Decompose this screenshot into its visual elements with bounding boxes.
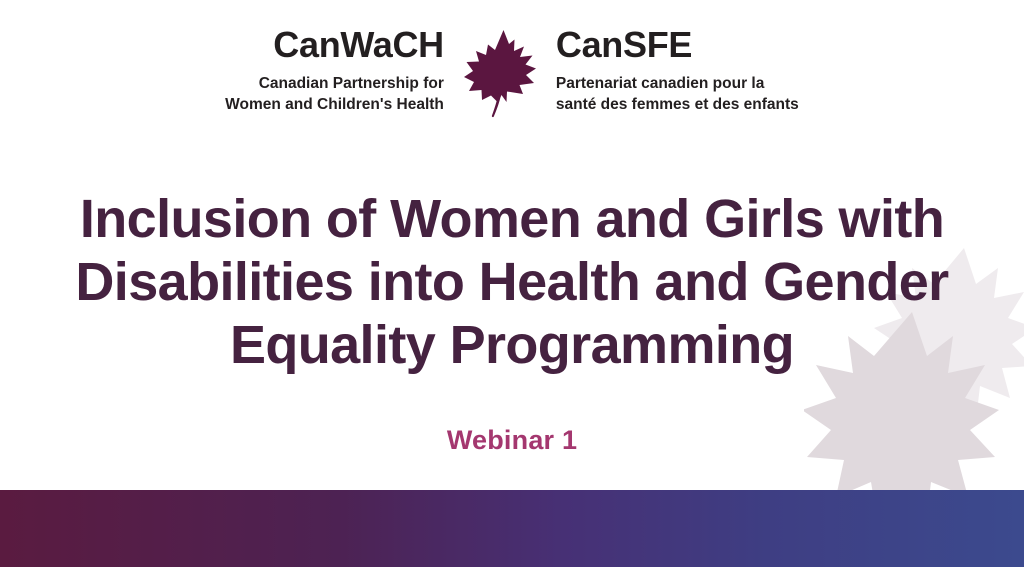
- maple-leaf-icon: [462, 28, 538, 126]
- logo-cansfe-tagline-line1: Partenariat canadien pour la: [556, 73, 764, 94]
- logo-canwach: CanWaCH Canadian Partnership for Women a…: [225, 26, 462, 116]
- brand-logo-lockup: CanWaCH Canadian Partnership for Women a…: [0, 26, 1024, 126]
- logo-cansfe-tagline-line2: santé des femmes et des enfants: [556, 94, 799, 115]
- title-block: Inclusion of Women and Girls with Disabi…: [52, 188, 972, 456]
- page-title-line-2: Disabilities into Health and Gender: [75, 252, 948, 312]
- logo-cansfe-name: CanSFE: [556, 26, 692, 64]
- page-title-line-3: Equality Programming: [230, 315, 794, 375]
- logo-cansfe: CanSFE Partenariat canadien pour la sant…: [538, 26, 799, 116]
- page-subtitle: Webinar 1: [52, 425, 972, 456]
- page-title-line-1: Inclusion of Women and Girls with: [80, 189, 944, 249]
- footer-gradient-bar: [0, 490, 1024, 567]
- logo-canwach-name: CanWaCH: [273, 26, 444, 64]
- logo-canwach-tagline-line1: Canadian Partnership for: [259, 73, 444, 94]
- page-title: Inclusion of Women and Girls with Disabi…: [52, 188, 972, 378]
- logo-canwach-tagline-line2: Women and Children's Health: [225, 94, 444, 115]
- presentation-slide: CanWaCH Canadian Partnership for Women a…: [0, 0, 1024, 567]
